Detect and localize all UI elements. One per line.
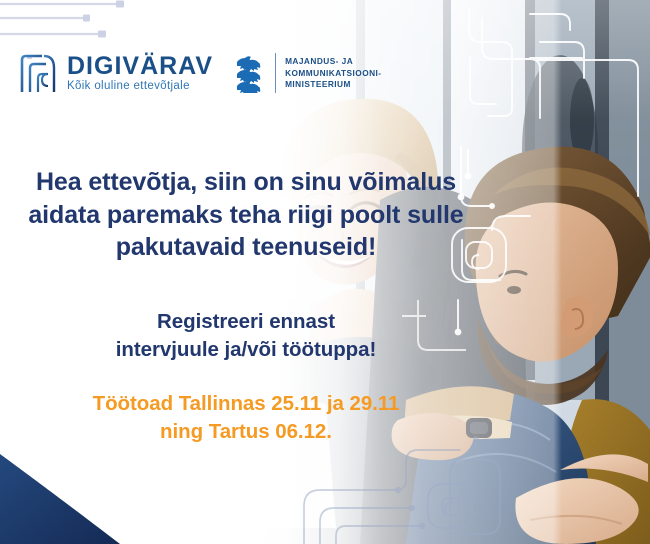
dates-line-2: ning Tartus 06.12. xyxy=(0,418,492,446)
ministry-divider xyxy=(275,53,276,93)
ministry-line-2: Kommunikatsiooni- xyxy=(285,68,381,79)
call-to-action-text: Registreeri ennast intervjuule ja/või tö… xyxy=(0,308,492,365)
digivarav-promo-banner: DIGIVÄRAV Kõik oluline ettevõtjale xyxy=(0,0,650,544)
subhead-line-1: Registreeri ennast xyxy=(0,308,492,336)
navy-quarter-circle-icon xyxy=(0,434,200,544)
ministry-logo[interactable]: Majandus- ja Kommunikatsiooni- Ministeer… xyxy=(235,53,381,93)
headline-line-1: Hea ettevõtja, siin on sinu võimalus xyxy=(0,166,492,199)
logo-row: DIGIVÄRAV Kõik oluline ettevõtjale xyxy=(18,52,382,94)
subhead-line-2: intervjuule ja/või töötuppa! xyxy=(0,336,492,364)
workshop-dates: Töötoad Tallinnas 25.11 ja 29.11 ning Ta… xyxy=(0,390,492,447)
ministry-line-3: Ministeerium xyxy=(285,79,381,90)
brand-name: DIGIVÄRAV xyxy=(67,54,213,79)
headline-line-3: pakutavaid teenuseid! xyxy=(0,231,492,264)
digivarav-logo[interactable]: DIGIVÄRAV Kõik oluline ettevõtjale xyxy=(18,52,213,94)
estonian-coat-of-arms-three-lions-icon xyxy=(235,53,266,93)
brand-tagline: Kõik oluline ettevõtjale xyxy=(67,81,213,93)
headline-line-2: aidata paremaks teha riigi poolt sulle xyxy=(0,199,492,232)
ministry-line-1: Majandus- ja xyxy=(285,56,381,67)
three-horizontal-node-lines-icon xyxy=(0,0,200,60)
dates-line-1: Töötoad Tallinnas 25.11 ja 29.11 xyxy=(0,390,492,418)
digivarav-spiral-gate-icon xyxy=(18,52,58,94)
headline: Hea ettevõtja, siin on sinu võimalus aid… xyxy=(0,166,492,264)
